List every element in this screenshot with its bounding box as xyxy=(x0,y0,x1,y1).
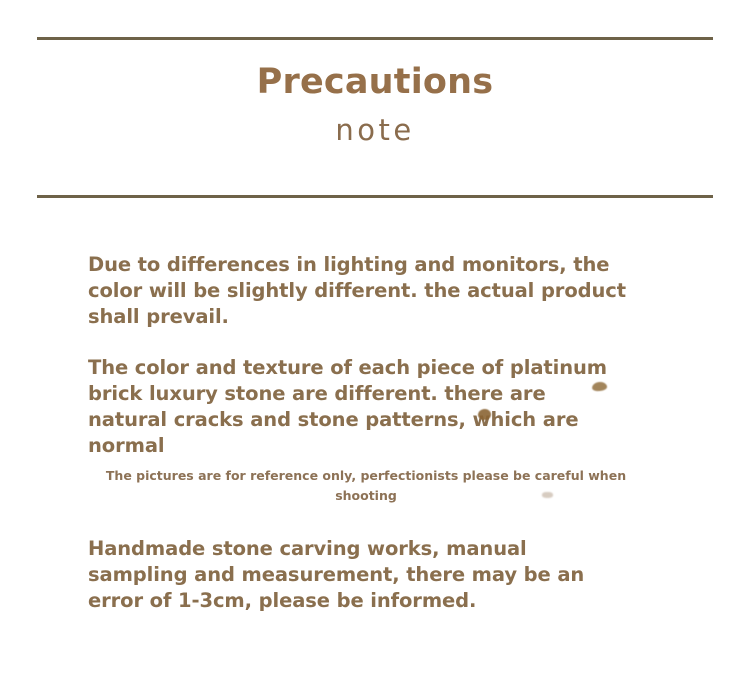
precautions-page: Precautions note Due to differences in l… xyxy=(0,0,750,686)
bottom-divider xyxy=(37,195,713,198)
page-title: Precautions xyxy=(0,62,750,102)
paragraph-measurement-tolerance-note: Handmade stone carving works, manual sam… xyxy=(88,536,608,614)
top-divider xyxy=(37,37,713,40)
paragraph-color-difference-note: Due to differences in lighting and monit… xyxy=(88,252,634,330)
paragraph-natural-variation-note: The color and texture of each piece of p… xyxy=(88,355,616,459)
header-block: Precautions note xyxy=(0,62,750,149)
page-subtitle: note xyxy=(0,112,750,148)
small-reference-note: The pictures are for reference only, per… xyxy=(88,466,644,506)
